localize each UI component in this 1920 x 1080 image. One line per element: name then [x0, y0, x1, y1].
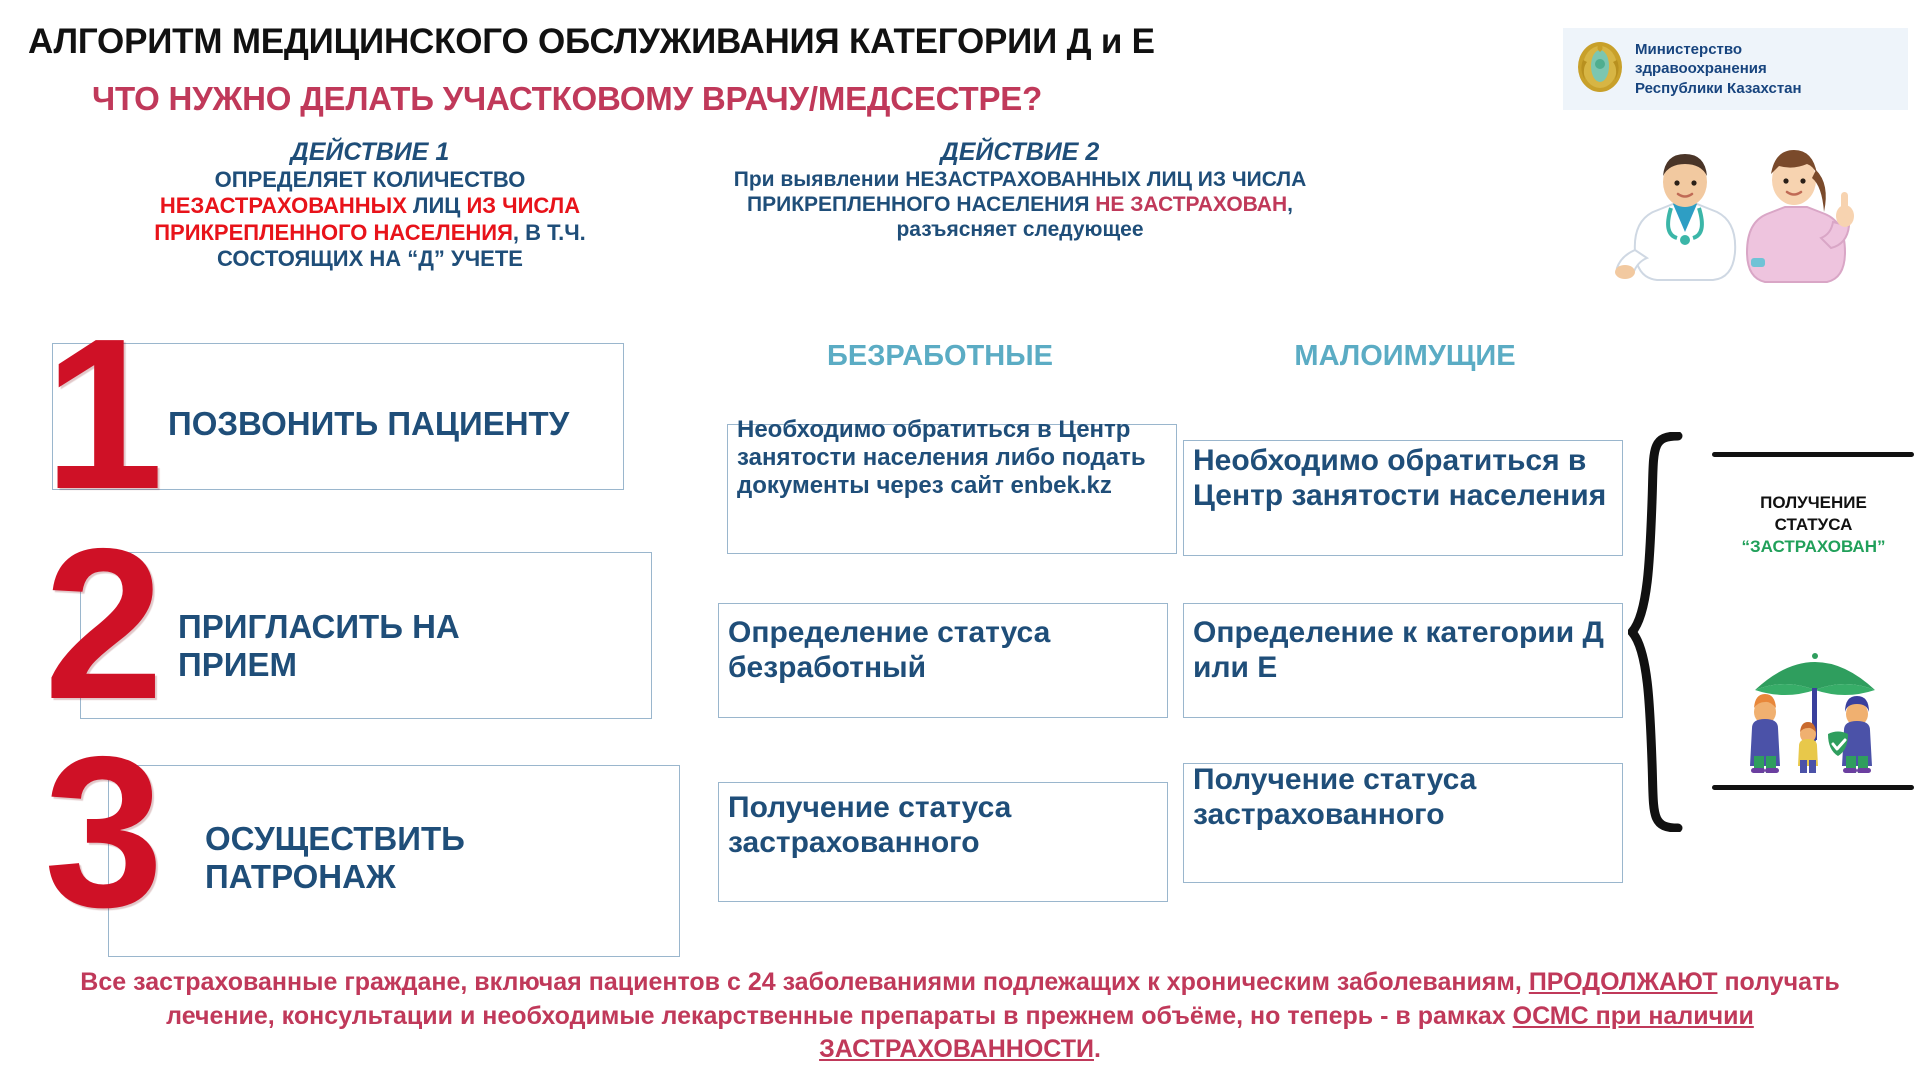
bottom-note-part-1: Все застрахованные граждане, включая пац… [80, 968, 1529, 996]
action2-line2-blue: ПРИКРЕПЛЕННОГО НАСЕЛЕНИЯ [747, 193, 1095, 216]
action-2-block: ДЕЙСТВИЕ 2 При выявлении НЕЗАСТРАХОВАННЫ… [690, 138, 1350, 243]
kazakhstan-emblem-icon [1575, 40, 1625, 99]
action-2-heading: ДЕЙСТВИЕ 2 [690, 138, 1350, 167]
poor-box-3-text: Получение статуса застрахованного [1193, 762, 1623, 832]
ministry-line-2: здравоохранения [1635, 59, 1802, 79]
column-header-unemployed: БЕЗРАБОТНЫЕ [720, 340, 1160, 373]
action1-line2-red-b: ИЗ ЧИСЛА [466, 193, 580, 218]
action-2-body: При выявлении НЕЗАСТРАХОВАННЫХ ЛИЦ ИЗ ЧИ… [690, 167, 1350, 243]
ministry-line-1: Министерство [1635, 40, 1802, 60]
column-header-poor: МАЛОИМУЩИЕ [1185, 340, 1625, 373]
action2-line2-tail: , [1287, 193, 1293, 216]
step-label-2: ПРИГЛАСИТЬ НА ПРИЕМ [178, 608, 578, 683]
bottom-note: Все застрахованные граждане, включая пац… [60, 966, 1860, 1067]
action1-line4: СОСТОЯЩИХ НА “Д” УЧЕТЕ [217, 246, 523, 271]
curly-brace-icon [1628, 432, 1698, 832]
step-number-2: 2 [44, 540, 164, 708]
result-panel-top-rule [1712, 452, 1914, 457]
action2-line2-red: НЕ ЗАСТРАХОВАН [1095, 193, 1287, 216]
action2-line3: разъясняет следующее [896, 218, 1143, 241]
action1-line2-red-a: НЕЗАСТРАХОВАННЫХ [160, 193, 407, 218]
action-1-block: ДЕЙСТВИЕ 1 ОПРЕДЕЛЯЕТ КОЛИЧЕСТВО НЕЗАСТР… [60, 138, 680, 273]
doctor-nurse-illustration [1595, 130, 1915, 290]
ministry-line-3: Республики Казахстан [1635, 79, 1802, 99]
step-number-1: 1 [44, 330, 164, 498]
unemployed-box-1-text: Необходимо обратиться в Центр занятости … [737, 416, 1177, 500]
bottom-note-part-3: . [1094, 1035, 1101, 1063]
step-number-3: 3 [44, 748, 164, 916]
result-status-text: ПОЛУЧЕНИЕ СТАТУСА “ЗАСТРАХОВАН” [1706, 492, 1920, 557]
ministry-label: Министерство здравоохранения Республики … [1635, 40, 1802, 99]
poor-box-1-text: Необходимо обратиться в Центр занятости … [1193, 443, 1623, 513]
action1-line3-blue: , В Т.Ч. [513, 220, 586, 245]
page-subtitle: ЧТО НУЖНО ДЕЛАТЬ УЧАСТКОВОМУ ВРАЧУ/МЕДСЕ… [92, 80, 1512, 118]
unemployed-box-2-text: Определение статуса безработный [728, 615, 1168, 685]
action-1-heading: ДЕЙСТВИЕ 1 [60, 138, 680, 167]
poor-box-2-text: Определение к категории Д или Е [1193, 615, 1623, 685]
step-label-1: ПОЗВОНИТЬ ПАЦИЕНТУ [168, 405, 588, 443]
action-1-body: ОПРЕДЕЛЯЕТ КОЛИЧЕСТВО НЕЗАСТРАХОВАННЫХ Л… [60, 167, 680, 273]
result-status-badge: “ЗАСТРАХОВАН” [1706, 536, 1920, 558]
action2-line1: При выявлении НЕЗАСТРАХОВАННЫХ ЛИЦ ИЗ ЧИ… [734, 168, 1307, 191]
infographic-canvas: АЛГОРИТМ МЕДИЦИНСКОГО ОБСЛУЖИВАНИЯ КАТЕГ… [0, 0, 1920, 1080]
page-title: АЛГОРИТМ МЕДИЦИНСКОГО ОБСЛУЖИВАНИЯ КАТЕГ… [28, 22, 1528, 62]
ministry-logo: Министерство здравоохранения Республики … [1563, 28, 1908, 110]
action1-line1: ОПРЕДЕЛЯЕТ КОЛИЧЕСТВО [215, 167, 526, 192]
step-label-3: ОСУЩЕСТВИТЬ ПАТРОНАЖ [205, 820, 605, 895]
result-line-1: ПОЛУЧЕНИЕ [1706, 492, 1920, 514]
umbrella-family-icon [1735, 638, 1895, 773]
action1-line3-red: ПРИКРЕПЛЕННОГО НАСЕЛЕНИЯ [154, 220, 513, 245]
action1-line2-blue: ЛИЦ [407, 193, 467, 218]
bottom-note-underline-1: ПРОДОЛЖАЮТ [1529, 968, 1718, 996]
result-line-2: СТАТУСА [1706, 514, 1920, 536]
result-panel-bottom-rule [1712, 785, 1914, 790]
unemployed-box-3-text: Получение статуса застрахованного [728, 790, 1168, 860]
